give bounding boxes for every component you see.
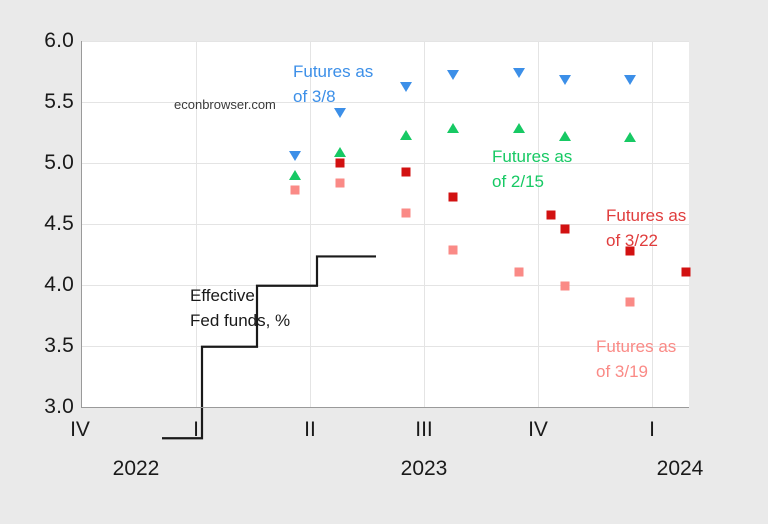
x-axis-line (81, 407, 689, 408)
watermark-label: econbrowser.com (174, 97, 276, 112)
x-axis-tick-label: II (304, 418, 316, 442)
x-axis-year-label: 2023 (401, 457, 448, 481)
y-axis-tick-label: 4.5 (14, 212, 74, 236)
y-axis-line (81, 41, 82, 407)
y-axis-tick-label: 6.0 (14, 29, 74, 53)
y-axis-tick-label: 5.0 (14, 151, 74, 175)
x-axis-tick-label: I (193, 418, 199, 442)
x-axis-tick-label: I (649, 418, 655, 442)
y-axis-tick-label: 5.5 (14, 90, 74, 114)
x-axis-year-label: 2022 (113, 457, 160, 481)
futures-2-15-label: Futures as of 2/15 (492, 144, 572, 194)
x-axis-tick-label: IV (70, 418, 90, 442)
effective-fed-funds-label: Effective Fed funds, % (190, 283, 290, 333)
chart-figure: econbrowser.com 3.03.54.04.55.05.56.0 IV… (0, 0, 768, 524)
x-axis-year-label: 2024 (657, 457, 704, 481)
y-axis-tick-label: 3.5 (14, 334, 74, 358)
gridline-horizontal (81, 41, 689, 42)
futures-3-22-label: Futures as of 3/22 (606, 203, 686, 253)
futures-3-19-label: Futures as of 3/19 (596, 334, 676, 384)
y-axis-ticks: 3.03.54.04.55.05.56.0 (10, 0, 74, 524)
futures-3-8-label: Futures as of 3/8 (293, 59, 373, 109)
y-axis-tick-label: 4.0 (14, 273, 74, 297)
data-point-marker (447, 70, 459, 80)
x-axis-tick-label: III (415, 418, 433, 442)
y-axis-tick-label: 3.0 (14, 395, 74, 419)
effective-fed-funds-line (162, 82, 768, 448)
x-axis-tick-label: IV (528, 418, 548, 442)
data-point-marker (513, 68, 525, 78)
